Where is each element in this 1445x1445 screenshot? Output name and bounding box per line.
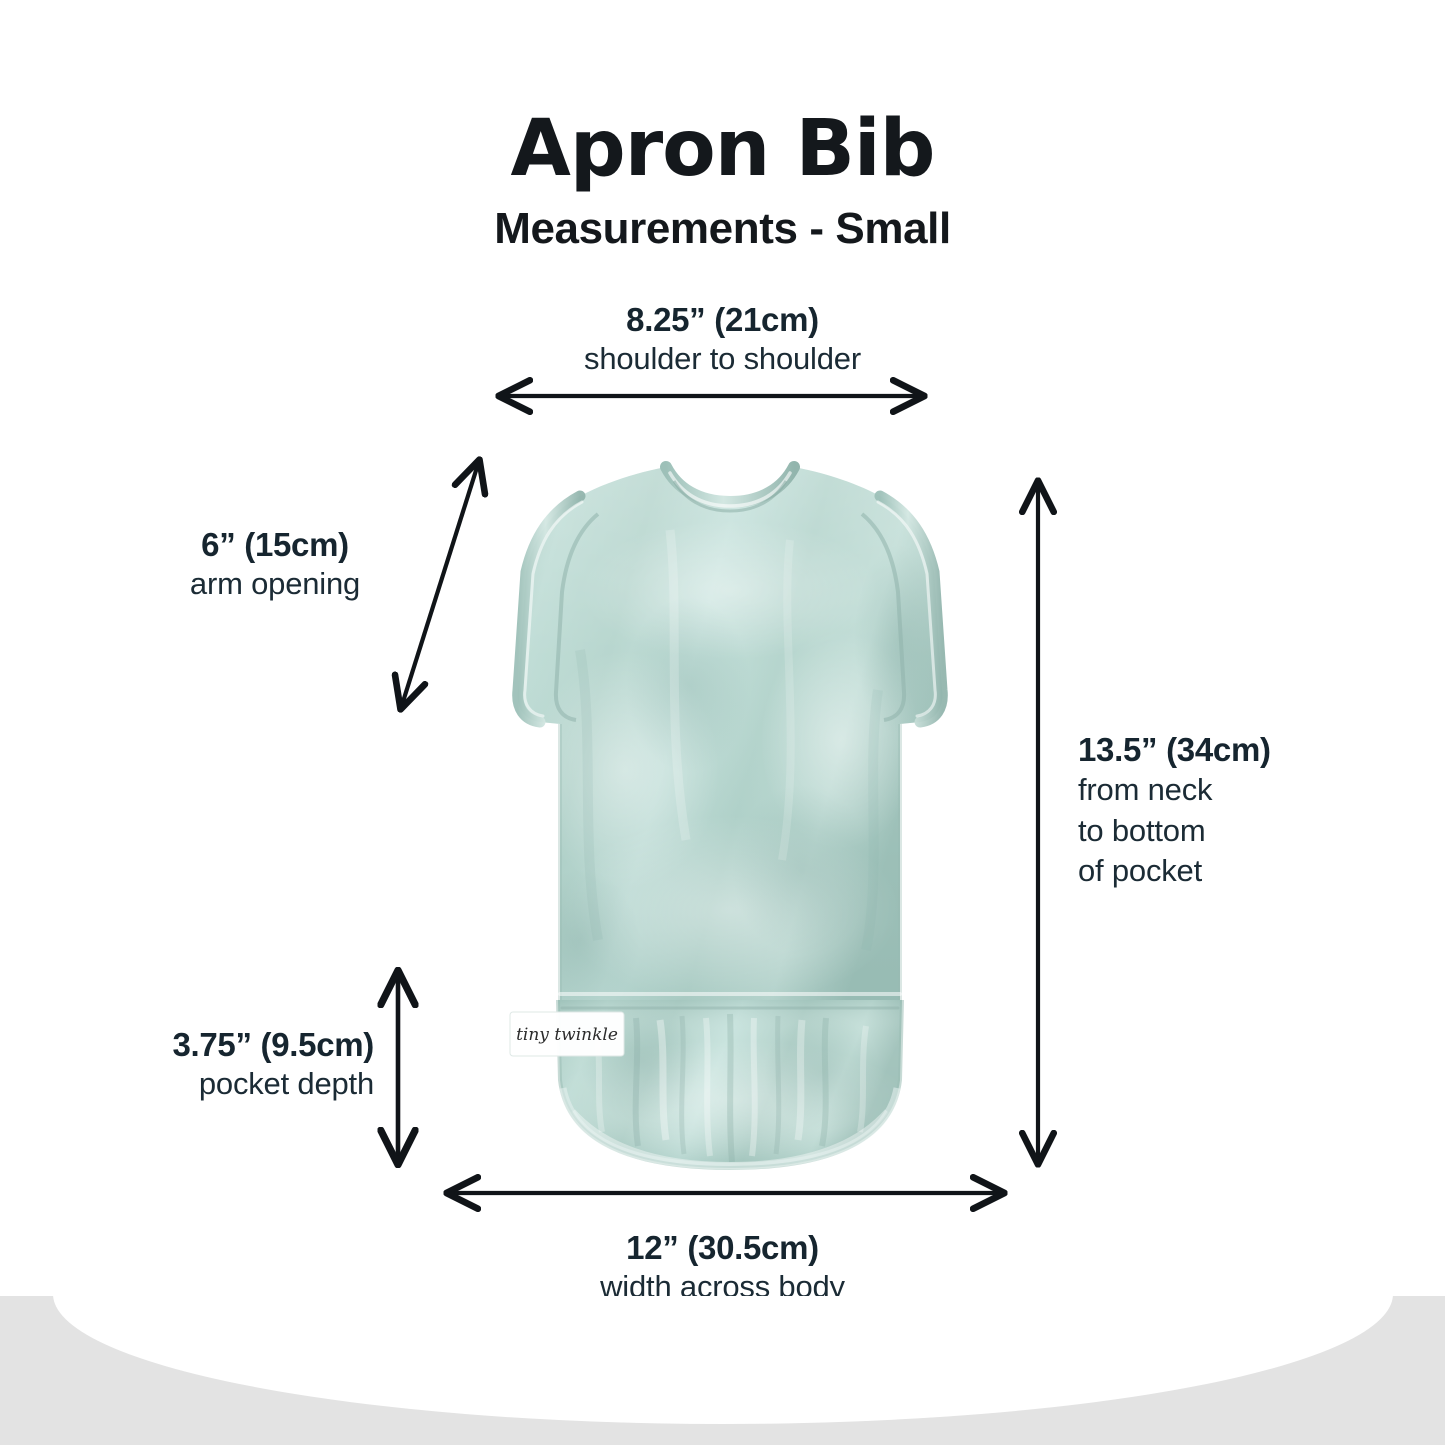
dimension-description: pocket depth [44,1065,374,1103]
dimension-value: 6” (15cm) [90,525,460,565]
dimension-value: 13.5” (34cm) [1078,730,1408,770]
dimension-label-neck-to-bottom-of-pocket: 13.5” (34cm) from neck to bottom of pock… [1078,730,1408,891]
dimension-description: arm opening [90,565,460,603]
footer-band [0,1296,1445,1445]
dimension-value: 8.25” (21cm) [0,300,1445,340]
dimension-label-width-across-body: 12” (30.5cm) width across body [0,1228,1445,1306]
dimension-label-pocket-depth: 3.75” (9.5cm) pocket depth [44,1025,374,1103]
dimension-description-line-1: from neck [1078,770,1408,810]
dimension-label-arm-opening: 6” (15cm) arm opening [90,525,460,603]
dimension-description-line-3: of pocket [1078,851,1408,891]
dimension-label-shoulder-to-shoulder: 8.25” (21cm) shoulder to shoulder [0,300,1445,378]
dimension-description-line-2: to bottom [1078,811,1408,851]
dimension-description: shoulder to shoulder [0,340,1445,378]
dimension-value: 3.75” (9.5cm) [44,1025,374,1065]
measurement-diagram: Apron Bib Measurements - Small [0,0,1445,1445]
dimension-value: 12” (30.5cm) [0,1228,1445,1268]
footer-arc [53,1296,1393,1424]
